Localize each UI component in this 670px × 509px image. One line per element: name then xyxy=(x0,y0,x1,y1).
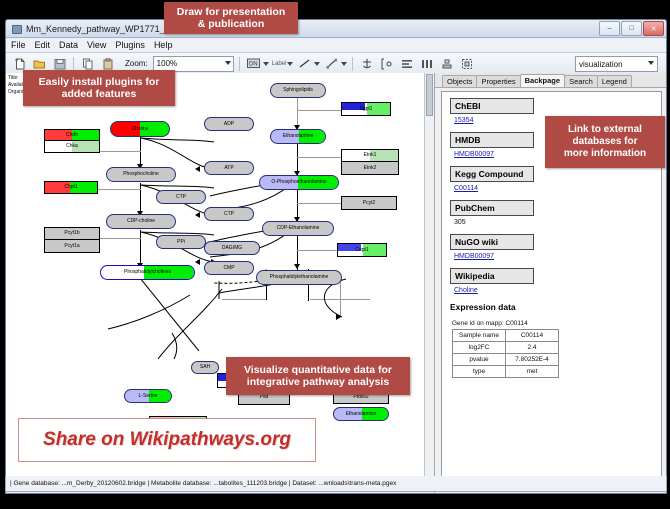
datanode-icon[interactable]: DN xyxy=(245,55,262,72)
section-heading-kegg-compound: Kegg Compound xyxy=(450,166,534,182)
menu-item-plugins[interactable]: Plugins xyxy=(115,40,145,50)
arrow-icon xyxy=(195,166,200,172)
table-cell-value: C00114 xyxy=(506,330,559,342)
node-label: Ethanolamine xyxy=(283,134,314,139)
metabolite-node-ctp[interactable]: CTP xyxy=(204,207,254,221)
callout-visualize-text: Visualize quantitative data forintegrati… xyxy=(244,364,392,389)
node-label: O-Phosphoethanolamine xyxy=(271,180,326,185)
gene-node-chdh[interactable]: Chdh xyxy=(45,130,99,141)
node-label: CDP-Ethanolamine xyxy=(277,226,320,231)
node-label: Phosphatidylethanolamine xyxy=(270,275,329,280)
node-label: Sphingolipids xyxy=(283,88,313,93)
arrow-icon xyxy=(336,314,341,320)
stack-icon[interactable] xyxy=(438,55,455,72)
gene-id-line: Gene id on mapp: C00114 xyxy=(452,320,661,327)
menu-item-data[interactable]: Data xyxy=(59,40,78,50)
info-title: Title: xyxy=(8,75,24,82)
line-icon[interactable] xyxy=(296,55,313,72)
node-label: L-Serine xyxy=(139,394,158,399)
align-icon[interactable] xyxy=(398,55,415,72)
metabolite-node-l-serine-left[interactable]: L-Serine xyxy=(124,389,172,403)
table-cell-value: 2.4 xyxy=(506,342,559,354)
chevron-down-icon[interactable] xyxy=(314,62,320,66)
tab-search[interactable]: Search xyxy=(564,75,598,87)
node-label: CDP-choline xyxy=(127,219,155,224)
metabolite-node-ppi[interactable]: PPi xyxy=(156,235,206,249)
group-icon[interactable] xyxy=(458,55,475,72)
edge-etnk xyxy=(297,157,341,158)
gene-node-pcyt1b[interactable]: Pcyt1b xyxy=(45,228,99,240)
edge-cept1 xyxy=(297,250,337,251)
app-icon xyxy=(11,23,22,34)
node-label: DAG/MG xyxy=(222,246,242,251)
node-label: Pcyt2 xyxy=(363,201,376,206)
node-label: Ethanolamine xyxy=(346,412,377,417)
metabolite-node-cdp-ethanolamine[interactable]: CDP-Ethanolamine xyxy=(262,221,334,236)
edge-sgpl1 xyxy=(297,110,341,111)
metabolite-node-atp[interactable]: ATP xyxy=(204,161,254,175)
chevron-down-icon[interactable] xyxy=(263,62,269,66)
gene-node-cept1[interactable]: Cept1 xyxy=(337,243,387,257)
node-label: Etnk2 xyxy=(364,166,377,171)
node-label: ADP xyxy=(224,122,234,127)
table-row: Sample name C00114 xyxy=(453,330,559,342)
metabolite-node-sah[interactable]: SAH xyxy=(191,361,219,374)
node-label: Chpt1 xyxy=(64,185,77,190)
node-label: Psd xyxy=(260,395,269,400)
callout-links: Link to externaldatabases formore inform… xyxy=(545,116,665,168)
node-label: Cept1 xyxy=(355,248,368,253)
gene-node-etnk1[interactable]: Etnk1 xyxy=(342,150,398,162)
zoom-value: 100% xyxy=(157,59,177,68)
distribute-icon[interactable] xyxy=(418,55,435,72)
toolbar-separator-3 xyxy=(352,57,353,71)
node-label: SAH xyxy=(200,365,210,370)
pathway-info-block: Title: Availab Organi xyxy=(8,75,24,96)
metabolite-node-choline[interactable]: Choline xyxy=(110,121,170,137)
anchor-icon[interactable] xyxy=(358,55,375,72)
node-label: PPi xyxy=(177,240,185,245)
chevron-down-icon[interactable] xyxy=(287,62,293,66)
gene-node-pcyt1a[interactable]: Pcyt1a xyxy=(45,240,99,252)
screenshot-root: Mm_Kennedy_pathway_WP1771_45176.gpml – □… xyxy=(0,0,670,509)
table-cell-label: type xyxy=(453,366,506,378)
menu-item-edit[interactable]: Edit xyxy=(35,40,51,50)
label-tool-text: Label xyxy=(272,61,287,67)
metabolite-node-o-phosphoethanolamine[interactable]: O-Phosphoethanolamine xyxy=(259,175,339,190)
nugo-wiki-link[interactable]: HMDB00097 xyxy=(454,253,661,260)
node-label: Ptdss2 xyxy=(353,395,368,400)
metabolite-node-adp[interactable]: ADP xyxy=(204,117,254,131)
node-label: CTP xyxy=(176,195,186,200)
metabolite-node-ethanolamine-2[interactable]: Ethanolamine xyxy=(333,407,389,421)
toolbar-separator-1 xyxy=(73,57,74,71)
table-cell-value: met xyxy=(506,366,559,378)
canvas-vertical-scrollbar[interactable] xyxy=(424,73,434,493)
status-bar: | Gene database: ...m_Derby_20120602.bri… xyxy=(5,476,667,492)
info-availability: Availab xyxy=(8,82,24,89)
node-label: Pcyt1b xyxy=(64,231,79,236)
metabolite-node-cmp[interactable]: CMP xyxy=(204,261,254,275)
metabolite-node-phosphocholine[interactable]: Phosphocholine xyxy=(106,167,176,182)
svg-text:DN: DN xyxy=(249,61,258,67)
visualization-select[interactable]: visualization xyxy=(575,56,658,72)
metabolite-node-phosphatidylethanolamine[interactable]: Phosphatidylethanolamine xyxy=(256,270,342,285)
callout-visualize: Visualize quantitative data forintegrati… xyxy=(226,357,410,395)
table-row: pvalue 7.80252E-4 xyxy=(453,354,559,366)
section-heading-chebi: ChEBI xyxy=(450,98,534,114)
node-label: Phosphocholine xyxy=(123,172,159,177)
metabolite-node-sphingolipids[interactable]: Sphingolipids xyxy=(270,83,326,98)
node-label: CTP xyxy=(224,212,234,217)
table-row: type met xyxy=(453,366,559,378)
tab-objects[interactable]: Objects xyxy=(442,75,477,87)
table-row: log2FC 2.4 xyxy=(453,342,559,354)
tab-backpage[interactable]: Backpage xyxy=(520,74,565,87)
node-label: Sgpl1 xyxy=(360,107,373,112)
section-heading-wikipedia: Wikipedia xyxy=(450,268,534,284)
menu-item-help[interactable]: Help xyxy=(154,40,173,50)
arrow-icon xyxy=(195,259,200,265)
edge-chdh-chka xyxy=(98,151,141,152)
interaction-icon[interactable] xyxy=(323,55,340,72)
node-label: CMP xyxy=(223,266,234,271)
toolbar-separator-2 xyxy=(239,57,240,71)
callout-plugins-text: Easily install plugins foradded features xyxy=(39,76,160,101)
visualization-value: visualization xyxy=(579,60,623,69)
bracket-icon[interactable] xyxy=(378,55,395,72)
datanode-tool[interactable]: DN xyxy=(245,55,269,72)
gene-group-etnk[interactable]: Etnk1 Etnk2 xyxy=(341,149,399,175)
table-cell-label: pvalue xyxy=(453,354,506,366)
label-tool[interactable]: Label xyxy=(272,61,294,67)
gene-node-chpt1[interactable]: Chpt1 xyxy=(44,181,98,194)
section-heading-hmdb: HMDB xyxy=(450,132,534,148)
callout-share: Share on Wikipathways.org xyxy=(18,418,316,462)
chevron-down-icon xyxy=(225,61,231,65)
section-heading-pubchem: PubChem xyxy=(450,200,534,216)
lower-left-edges xyxy=(94,273,224,393)
edge-psd xyxy=(222,299,266,300)
gene-node-pcyt2[interactable]: Pcyt2 xyxy=(341,196,397,210)
interaction-tool[interactable] xyxy=(323,55,347,72)
tab-properties[interactable]: Properties xyxy=(476,75,520,87)
section-heading-nugo-wiki: NuGO wiki xyxy=(450,234,534,250)
callout-share-text: Share on Wikipathways.org xyxy=(43,429,291,451)
callout-plugins: Easily install plugins foradded features xyxy=(23,70,175,106)
node-label: Chka xyxy=(66,144,78,149)
menu-item-view[interactable]: View xyxy=(87,40,106,50)
pubchem-value: 305 xyxy=(454,219,661,226)
menu-bar: File Edit Data View Plugins Help xyxy=(6,38,666,53)
minimize-button[interactable]: – xyxy=(599,21,620,36)
edge-chpt1 xyxy=(98,189,141,190)
wikipedia-link[interactable]: Choline xyxy=(454,287,661,294)
node-label: Choline xyxy=(132,127,149,132)
menu-item-file[interactable]: File xyxy=(11,40,26,50)
node-label: Etnk1 xyxy=(364,153,377,158)
expression-data-heading: Expression data xyxy=(450,302,661,312)
table-cell-label: Sample name xyxy=(453,330,506,342)
metabolite-node-ethanolamine[interactable]: Ethanolamine xyxy=(270,129,326,144)
info-organism: Organi xyxy=(8,89,24,96)
line-tool[interactable] xyxy=(296,55,320,72)
node-label: Phosphatidylcholines xyxy=(124,270,171,275)
metabolite-node-ctp-mid[interactable]: CTP xyxy=(156,190,206,204)
node-label: Chdh xyxy=(66,133,78,138)
table-cell-value: 7.80252E-4 xyxy=(506,354,559,366)
kegg-compound-link[interactable]: C00114 xyxy=(454,185,661,192)
chevron-down-icon[interactable] xyxy=(341,62,347,66)
tab-legend[interactable]: Legend xyxy=(597,75,632,87)
close-button[interactable]: ✕ xyxy=(643,21,664,36)
table-cell-label: log2FC xyxy=(453,342,506,354)
metabolite-node-dag-mg[interactable]: DAG/MG xyxy=(204,241,260,255)
callout-draw: Draw for presentation& publication xyxy=(164,2,298,34)
gene-node-etnk2[interactable]: Etnk2 xyxy=(342,162,398,174)
edge-pcyt1 xyxy=(98,238,141,239)
edge-pcyt2 xyxy=(297,203,341,204)
chevron-down-icon xyxy=(648,61,654,65)
side-panel-tabs: Objects Properties Backpage Search Legen… xyxy=(435,73,666,88)
metabolite-node-cdp-choline[interactable]: CDP-choline xyxy=(106,214,176,229)
window-controls: – □ ✕ xyxy=(599,21,664,36)
title-bar: Mm_Kennedy_pathway_WP1771_45176.gpml – □… xyxy=(6,20,666,38)
callout-links-text: Link to externaldatabases formore inform… xyxy=(564,124,646,159)
zoom-label: Zoom: xyxy=(125,59,148,68)
gene-node-chka[interactable]: Chka xyxy=(45,141,99,152)
gene-node-sgpl1[interactable]: Sgpl1 xyxy=(341,102,391,116)
callout-draw-text: Draw for presentation& publication xyxy=(177,6,286,31)
node-label: Pcyt1a xyxy=(64,244,79,249)
status-text: | Gene database: ...m_Derby_20120602.bri… xyxy=(6,480,396,487)
scrollbar-thumb[interactable] xyxy=(426,74,433,116)
arrow-icon xyxy=(195,212,200,218)
metabolite-node-phosphatidylcholines[interactable]: Phosphatidylcholines xyxy=(100,265,195,280)
gene-group-chdh-chka[interactable]: Chdh Chka xyxy=(44,129,100,153)
node-label: ATP xyxy=(224,166,233,171)
gene-group-pcyt1[interactable]: Pcyt1b Pcyt1a xyxy=(44,227,100,253)
maximize-button[interactable]: □ xyxy=(621,21,642,36)
expression-data-table: Sample name C00114 log2FC 2.4 pvalue 7.8… xyxy=(452,329,559,378)
